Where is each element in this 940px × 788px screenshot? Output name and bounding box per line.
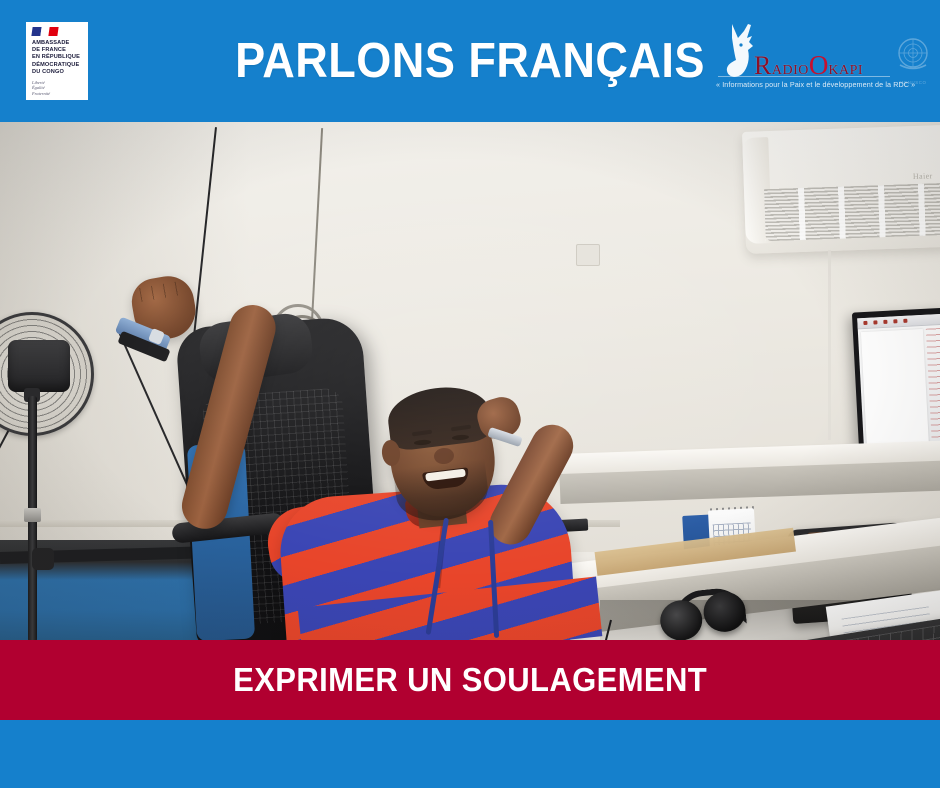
embassy-line-5: DU CONGO [32, 69, 84, 76]
un-logo-label: MONUSCO [892, 80, 934, 85]
embassy-logo-lines: AMBASSADE DE FRANCE EN RÉPUBLIQUE DÉMOCR… [32, 40, 84, 76]
raised-arm [177, 300, 281, 534]
embassy-motto: Liberté Égalité Fraternité [32, 80, 84, 96]
motto-fraternite: Fraternité [32, 91, 84, 96]
footer-bar [0, 720, 940, 788]
okapi-divider [718, 76, 890, 77]
un-monusco-logo: MONUSCO [892, 34, 934, 86]
man-stretching [0, 122, 940, 640]
radio-okapi-logo: RadioOkapi « Informations pour la Paix e… [716, 20, 886, 100]
poster-header: AMBASSADE DE FRANCE EN RÉPUBLIQUE DÉMOCR… [0, 0, 940, 122]
feature-photo: Haier [0, 122, 940, 640]
parlons-francais-poster: AMBASSADE DE FRANCE EN RÉPUBLIQUE DÉMOCR… [0, 0, 940, 788]
okapi-tagline: « Informations pour la Paix et le dévelo… [716, 80, 892, 90]
caption-text: EXPRIMER UN SOULAGEMENT [233, 661, 707, 699]
un-emblem-icon [892, 34, 934, 76]
embassy-line-3: EN RÉPUBLIQUE [32, 54, 84, 61]
caption-banner: EXPRIMER UN SOULAGEMENT [0, 640, 940, 720]
photo-scene: Haier [0, 122, 940, 640]
france-embassy-logo: AMBASSADE DE FRANCE EN RÉPUBLIQUE DÉMOCR… [26, 22, 88, 100]
embassy-line-4: DÉMOCRATIQUE [32, 62, 84, 69]
embassy-line-1: AMBASSADE [32, 40, 84, 47]
french-flag-icon [31, 27, 58, 36]
